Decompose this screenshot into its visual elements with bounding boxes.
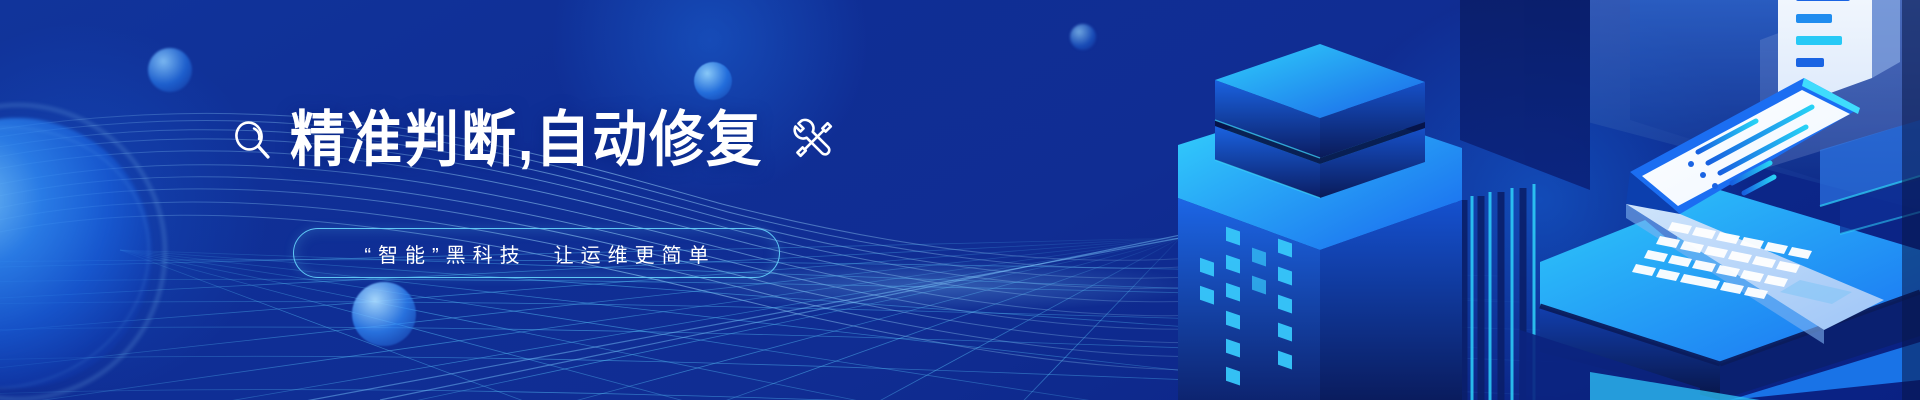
isometric-illustration [1160,0,1920,400]
subtitle-text: “智能”黑科技 让运维更简单 [357,239,715,268]
magnifier-icon [232,119,274,161]
tech-banner: 精准判断,自动修复 “智能”黑科技 让运维更简单 [0,0,1920,400]
foreground-column [1902,0,1920,400]
bokeh-sphere-top-left [148,48,192,92]
bokeh-sphere-top-center [694,62,732,100]
subtitle-pill: “智能”黑科技 让运维更简单 [293,228,780,278]
bokeh-sphere-upper-right [1070,24,1096,50]
wrench-screwdriver-icon [789,116,837,164]
headline-row: 精准判断,自动修复 [232,112,837,167]
page-title: 精准判断,自动修复 [290,109,763,170]
bokeh-sphere-center [352,282,416,346]
